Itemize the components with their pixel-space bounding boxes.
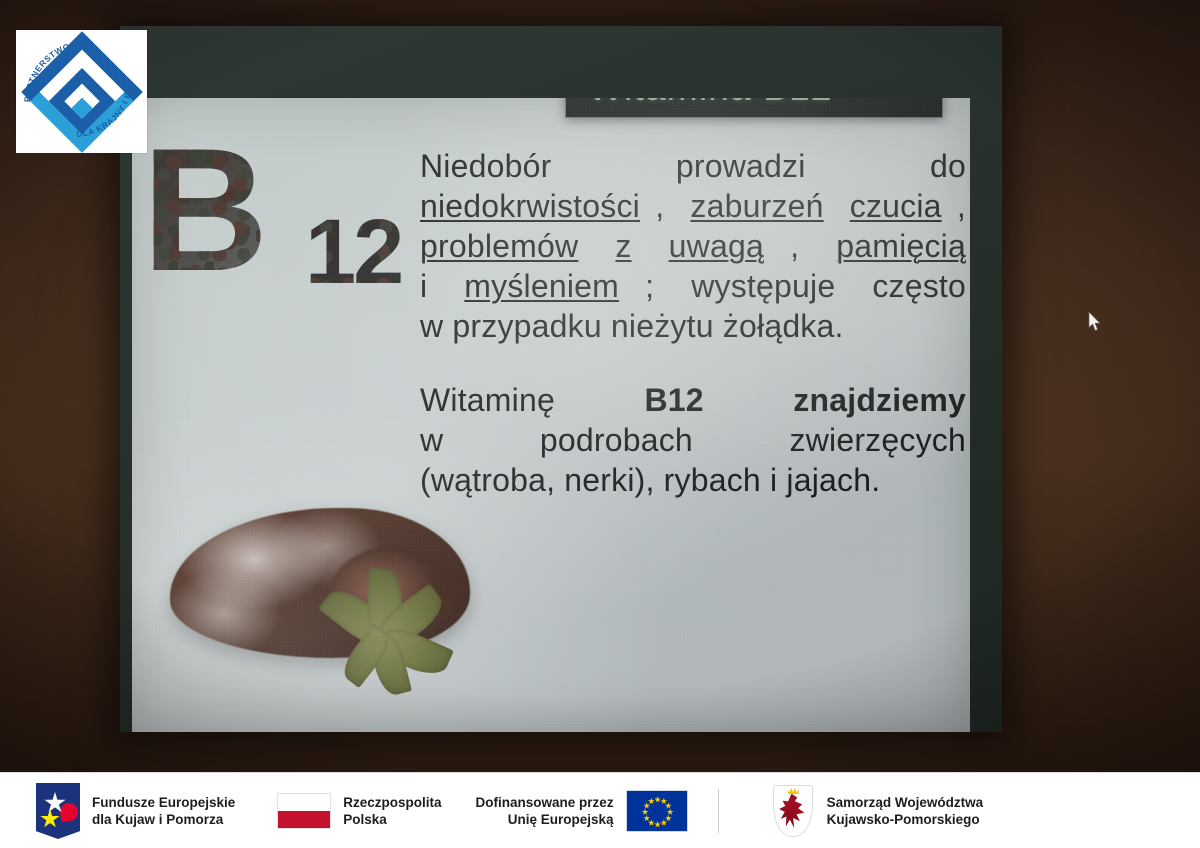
footer-line-1: Dofinansowane przez	[476, 794, 614, 811]
eu-flag-star	[643, 802, 650, 809]
eu-funds-flag-icon	[36, 783, 80, 839]
eu-flag-star	[660, 798, 667, 805]
footer-line-1: Fundusze Europejskie	[92, 794, 235, 811]
polish-flag-white-band	[278, 794, 330, 811]
footer-block-fundusze-europejskie: Fundusze Europejskie dla Kujaw i Pomorza	[0, 783, 235, 839]
partnerstwo-logo-overlay: PARTNERSTWO DLA KRAJNY I PAŁUK	[16, 30, 147, 153]
footer-text-fundusze: Fundusze Europejskie dla Kujaw i Pomorza	[92, 794, 235, 828]
eu-flag-star	[643, 815, 650, 822]
logo-arc-top-text: PARTNERSTWO	[22, 41, 71, 102]
eu-flag-star	[665, 815, 672, 822]
footer-text-rzeczpospolita: Rzeczpospolita Polska	[343, 794, 441, 828]
eu-flag-star	[648, 798, 655, 805]
polish-flag-icon	[277, 793, 331, 829]
footer-line-2: dla Kujaw i Pomorza	[92, 811, 235, 828]
logo-arc-text-group: PARTNERSTWO DLA KRAJNY I PAŁUK	[16, 30, 147, 153]
polish-flag-red-band	[278, 811, 330, 828]
footer-block-samorzad-wojewodztwa: Samorząd Województwa Kujawsko-Pomorskieg…	[773, 783, 984, 839]
eu-flag-star	[660, 819, 667, 826]
eu-flag-star	[654, 796, 661, 803]
footer-line-1: Samorząd Województwa	[827, 794, 984, 811]
eu-flag-icon	[626, 790, 688, 832]
screenshot-root: B 12 Niedobórprowadzidoniedokrwistości	[0, 0, 1200, 848]
footer-line-2: Kujawsko-Pomorskiego	[827, 811, 984, 828]
photo-vignette	[0, 0, 1200, 772]
room-background: B 12 Niedobórprowadzidoniedokrwistości	[0, 0, 1200, 772]
logo-arc-top-textpath: PARTNERSTWO	[22, 41, 71, 102]
arrow-pointer-icon	[1088, 312, 1102, 332]
eu-funding-footer: Fundusze Europejskie dla Kujaw i Pomorza…	[0, 772, 1200, 848]
footer-block-dofinansowane-ue: Dofinansowane przez Unię Europejską	[476, 783, 688, 839]
mouse-cursor	[1088, 312, 1102, 332]
eu-flag-star	[648, 819, 655, 826]
footer-block-rzeczpospolita-polska: Rzeczpospolita Polska	[277, 783, 441, 839]
eu-flag-star	[667, 809, 674, 816]
footer-line-2: Unię Europejską	[476, 811, 614, 828]
footer-line-1: Rzeczpospolita	[343, 794, 441, 811]
footer-line-2: Polska	[343, 811, 441, 828]
eu-flag-star	[642, 809, 649, 816]
eu-flag-star	[665, 802, 672, 809]
footer-text-dofinansowane: Dofinansowane przez Unię Europejską	[476, 794, 614, 828]
eu-flag-star	[654, 821, 661, 828]
footer-text-samorzad: Samorząd Województwa Kujawsko-Pomorskieg…	[827, 794, 984, 828]
footer-divider	[718, 789, 719, 833]
kujawsko-pomorskie-coat-of-arms-icon	[773, 785, 813, 837]
